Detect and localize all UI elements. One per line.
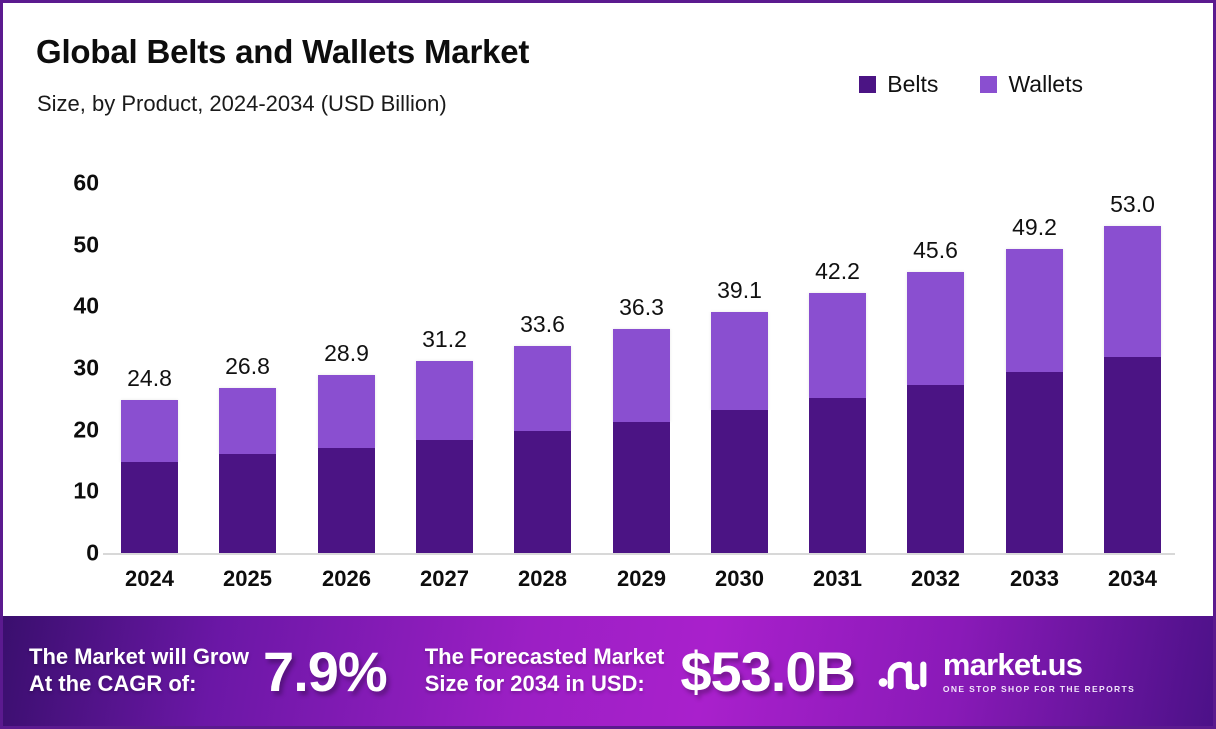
y-axis-tick-60: 60	[73, 169, 99, 196]
bar-group-2034[interactable]: 53.0	[1104, 226, 1161, 553]
bar-group-2027[interactable]: 31.2	[416, 361, 473, 553]
x-axis-tick-2029: 2029	[613, 566, 670, 592]
bottom-banner: The Market will Grow At the CAGR of: 7.9…	[3, 616, 1213, 726]
cagr-label-line1: The Market will Grow	[29, 644, 249, 669]
bar-segment-wallets-2033[interactable]	[1006, 249, 1063, 371]
bar-group-2032[interactable]: 45.6	[907, 272, 964, 553]
x-axis-tick-2024: 2024	[121, 566, 178, 592]
infographic-root: Global Belts and Wallets Market Size, by…	[0, 0, 1216, 729]
bar-value-label-2034: 53.0	[1110, 191, 1155, 218]
bar-value-label-2027: 31.2	[422, 326, 467, 353]
bar-segment-wallets-2024[interactable]	[121, 400, 178, 462]
bar-segment-wallets-2029[interactable]	[613, 329, 670, 422]
bar-value-label-2028: 33.6	[520, 311, 565, 338]
bar-group-2033[interactable]: 49.2	[1006, 249, 1063, 553]
bar-segment-wallets-2032[interactable]	[907, 272, 964, 386]
cagr-label-line2: At the CAGR of:	[29, 671, 196, 696]
cagr-block: The Market will Grow At the CAGR of: 7.9…	[29, 639, 387, 704]
bar-segment-wallets-2030[interactable]	[711, 312, 768, 410]
x-axis-tick-2033: 2033	[1006, 566, 1063, 592]
y-axis-tick-10: 10	[73, 478, 99, 505]
bar-value-label-2029: 36.3	[619, 294, 664, 321]
x-axis-tick-2032: 2032	[907, 566, 964, 592]
y-axis-tick-30: 30	[73, 354, 99, 381]
bar-segment-belts-2032[interactable]	[907, 385, 964, 553]
bar-segment-belts-2033[interactable]	[1006, 372, 1063, 553]
bar-group-2029[interactable]: 36.3	[613, 329, 670, 553]
bar-group-2031[interactable]: 42.2	[809, 293, 866, 553]
bar-segment-wallets-2034[interactable]	[1104, 226, 1161, 357]
market-us-logo-icon	[877, 650, 933, 692]
bar-group-2026[interactable]: 28.9	[318, 375, 375, 553]
forecast-label: The Forecasted Market Size for 2034 in U…	[425, 644, 665, 698]
x-axis-tick-2031: 2031	[809, 566, 866, 592]
cagr-value: 7.9%	[263, 639, 387, 704]
x-axis-tick-2028: 2028	[514, 566, 571, 592]
brand-name: market.us	[943, 649, 1082, 680]
bar-segment-wallets-2031[interactable]	[809, 293, 866, 399]
bar-segment-wallets-2026[interactable]	[318, 375, 375, 448]
bar-segment-belts-2028[interactable]	[514, 431, 571, 553]
x-axis-tick-2025: 2025	[219, 566, 276, 592]
x-axis-tick-2034: 2034	[1104, 566, 1161, 592]
y-axis-tick-0: 0	[86, 540, 99, 567]
bar-value-label-2032: 45.6	[913, 237, 958, 264]
bar-segment-wallets-2027[interactable]	[416, 361, 473, 441]
bar-segment-belts-2031[interactable]	[809, 398, 866, 553]
forecast-label-line1: The Forecasted Market	[425, 644, 665, 669]
bar-value-label-2025: 26.8	[225, 353, 270, 380]
bar-value-label-2026: 28.9	[324, 340, 369, 367]
y-axis-tick-20: 20	[73, 416, 99, 443]
bar-segment-wallets-2025[interactable]	[219, 388, 276, 455]
bar-segment-belts-2029[interactable]	[613, 422, 670, 553]
y-axis-tick-40: 40	[73, 293, 99, 320]
bar-group-2024[interactable]: 24.8	[121, 400, 178, 553]
bar-segment-belts-2024[interactable]	[121, 462, 178, 553]
bar-segment-belts-2030[interactable]	[711, 410, 768, 553]
brand-tagline: ONE STOP SHOP FOR THE REPORTS	[943, 684, 1135, 694]
cagr-label: The Market will Grow At the CAGR of:	[29, 644, 249, 698]
bar-value-label-2033: 49.2	[1012, 214, 1057, 241]
y-axis-tick-50: 50	[73, 231, 99, 258]
bar-segment-wallets-2028[interactable]	[514, 346, 571, 431]
bar-segment-belts-2026[interactable]	[318, 448, 375, 554]
x-axis-tick-2030: 2030	[711, 566, 768, 592]
brand-words: market.us ONE STOP SHOP FOR THE REPORTS	[943, 649, 1135, 694]
bar-segment-belts-2034[interactable]	[1104, 357, 1161, 553]
bar-segment-belts-2027[interactable]	[416, 440, 473, 553]
x-axis-tick-2027: 2027	[416, 566, 473, 592]
bar-group-2025[interactable]: 26.8	[219, 388, 276, 553]
bar-group-2028[interactable]: 33.6	[514, 346, 571, 553]
bar-value-label-2031: 42.2	[815, 258, 860, 285]
bar-value-label-2030: 39.1	[717, 277, 762, 304]
brand-logo[interactable]: market.us ONE STOP SHOP FOR THE REPORTS	[877, 649, 1135, 694]
x-axis-tick-2026: 2026	[318, 566, 375, 592]
forecast-label-line2: Size for 2034 in USD:	[425, 671, 645, 696]
forecast-value: $53.0B	[680, 639, 855, 704]
bar-segment-belts-2025[interactable]	[219, 454, 276, 553]
forecast-block: The Forecasted Market Size for 2034 in U…	[425, 639, 855, 704]
bar-value-label-2024: 24.8	[127, 365, 172, 392]
bar-group-2030[interactable]: 39.1	[711, 312, 768, 553]
